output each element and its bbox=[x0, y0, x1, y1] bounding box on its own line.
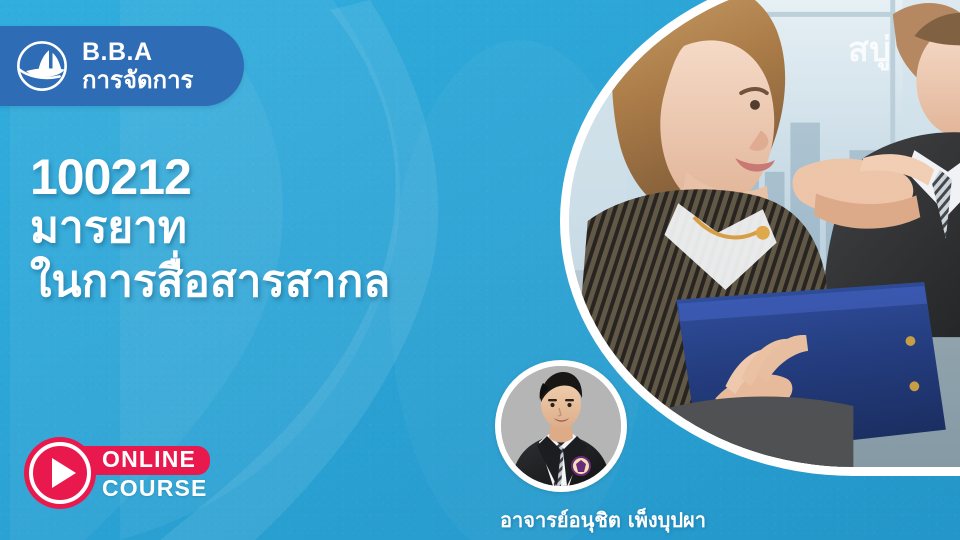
title-block: 100212 มารยาท ในการสื่อสารสากล bbox=[30, 152, 500, 308]
online-course-badge[interactable]: ONLINE COURSE bbox=[24, 437, 210, 509]
course-cover-slide: สบู่ B.B.A การจัดการ 100212 มารยาท ในการ… bbox=[0, 0, 960, 540]
avatar-image bbox=[501, 366, 621, 486]
course-title: มารยาท ในการสื่อสารสากล bbox=[30, 201, 500, 308]
hero-photo bbox=[569, 0, 960, 467]
brand-line-bba: B.B.A bbox=[82, 40, 193, 65]
course-title-line-1: มารยาท bbox=[30, 201, 500, 255]
play-triangle-icon bbox=[52, 458, 76, 488]
course-label: COURSE bbox=[102, 476, 210, 502]
course-code: 100212 bbox=[30, 152, 500, 203]
brand-line-management: การจัดการ bbox=[82, 68, 193, 92]
play-button-icon[interactable] bbox=[24, 437, 96, 509]
sailboat-waves-circle-icon bbox=[14, 38, 70, 94]
online-label: ONLINE bbox=[102, 446, 196, 472]
instructor-name: อาจารย์อนุชิต เพ็งบุปผา bbox=[500, 504, 800, 536]
brand-text-block: B.B.A การจัดการ bbox=[82, 40, 193, 92]
online-label-pill: ONLINE bbox=[80, 446, 210, 475]
suit-emblem bbox=[572, 457, 590, 475]
online-course-text: ONLINE COURSE bbox=[80, 444, 210, 502]
sailboat-logo-svg bbox=[14, 38, 70, 94]
business-handshake-photo bbox=[569, 0, 960, 467]
brand-badge[interactable]: B.B.A การจัดการ bbox=[0, 26, 244, 106]
avatar bbox=[495, 360, 627, 492]
instructor-portrait bbox=[501, 366, 621, 486]
course-title-line-2: ในการสื่อสารสากล bbox=[30, 255, 500, 309]
